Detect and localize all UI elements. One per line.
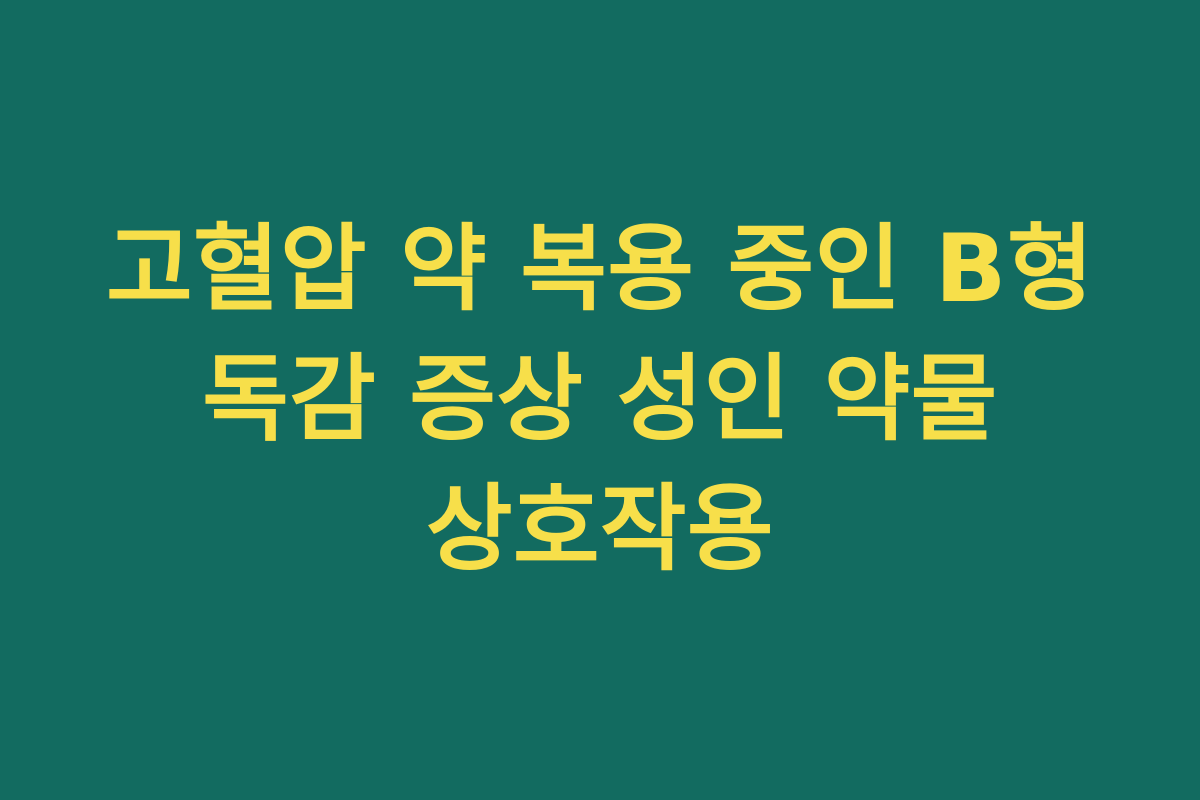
headline-text: 고혈압 약 복용 중인 B형 독감 증상 성인 약물 상호작용 [88, 205, 1112, 595]
banner-canvas: 고혈압 약 복용 중인 B형 독감 증상 성인 약물 상호작용 [0, 0, 1200, 800]
